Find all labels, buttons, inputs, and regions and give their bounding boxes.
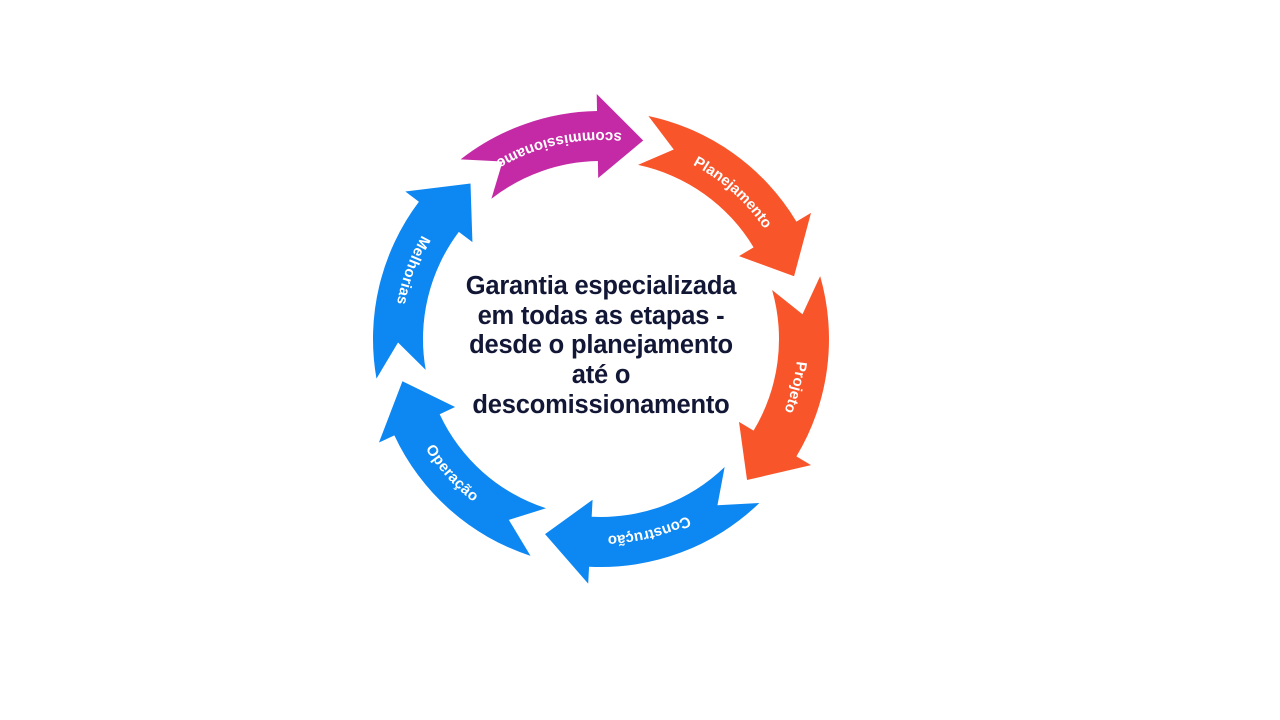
cycle-segment-melhorias[interactable] <box>373 183 472 378</box>
cycle-segments <box>373 94 829 584</box>
cycle-segment-projeto[interactable] <box>739 276 829 480</box>
segment-label-descomissionamento: Descommissionamento <box>0 0 622 177</box>
cycle-diagram: PlanejamentoProjetoConstruçãoOperaçãoMel… <box>0 0 1280 720</box>
diagram-canvas: PlanejamentoProjetoConstruçãoOperaçãoMel… <box>0 0 1280 720</box>
cycle-segment-labels: PlanejamentoProjetoConstruçãoOperaçãoMel… <box>0 0 810 549</box>
cycle-segment-planejamento[interactable] <box>638 116 811 276</box>
cycle-segment-operacao[interactable] <box>379 381 546 556</box>
